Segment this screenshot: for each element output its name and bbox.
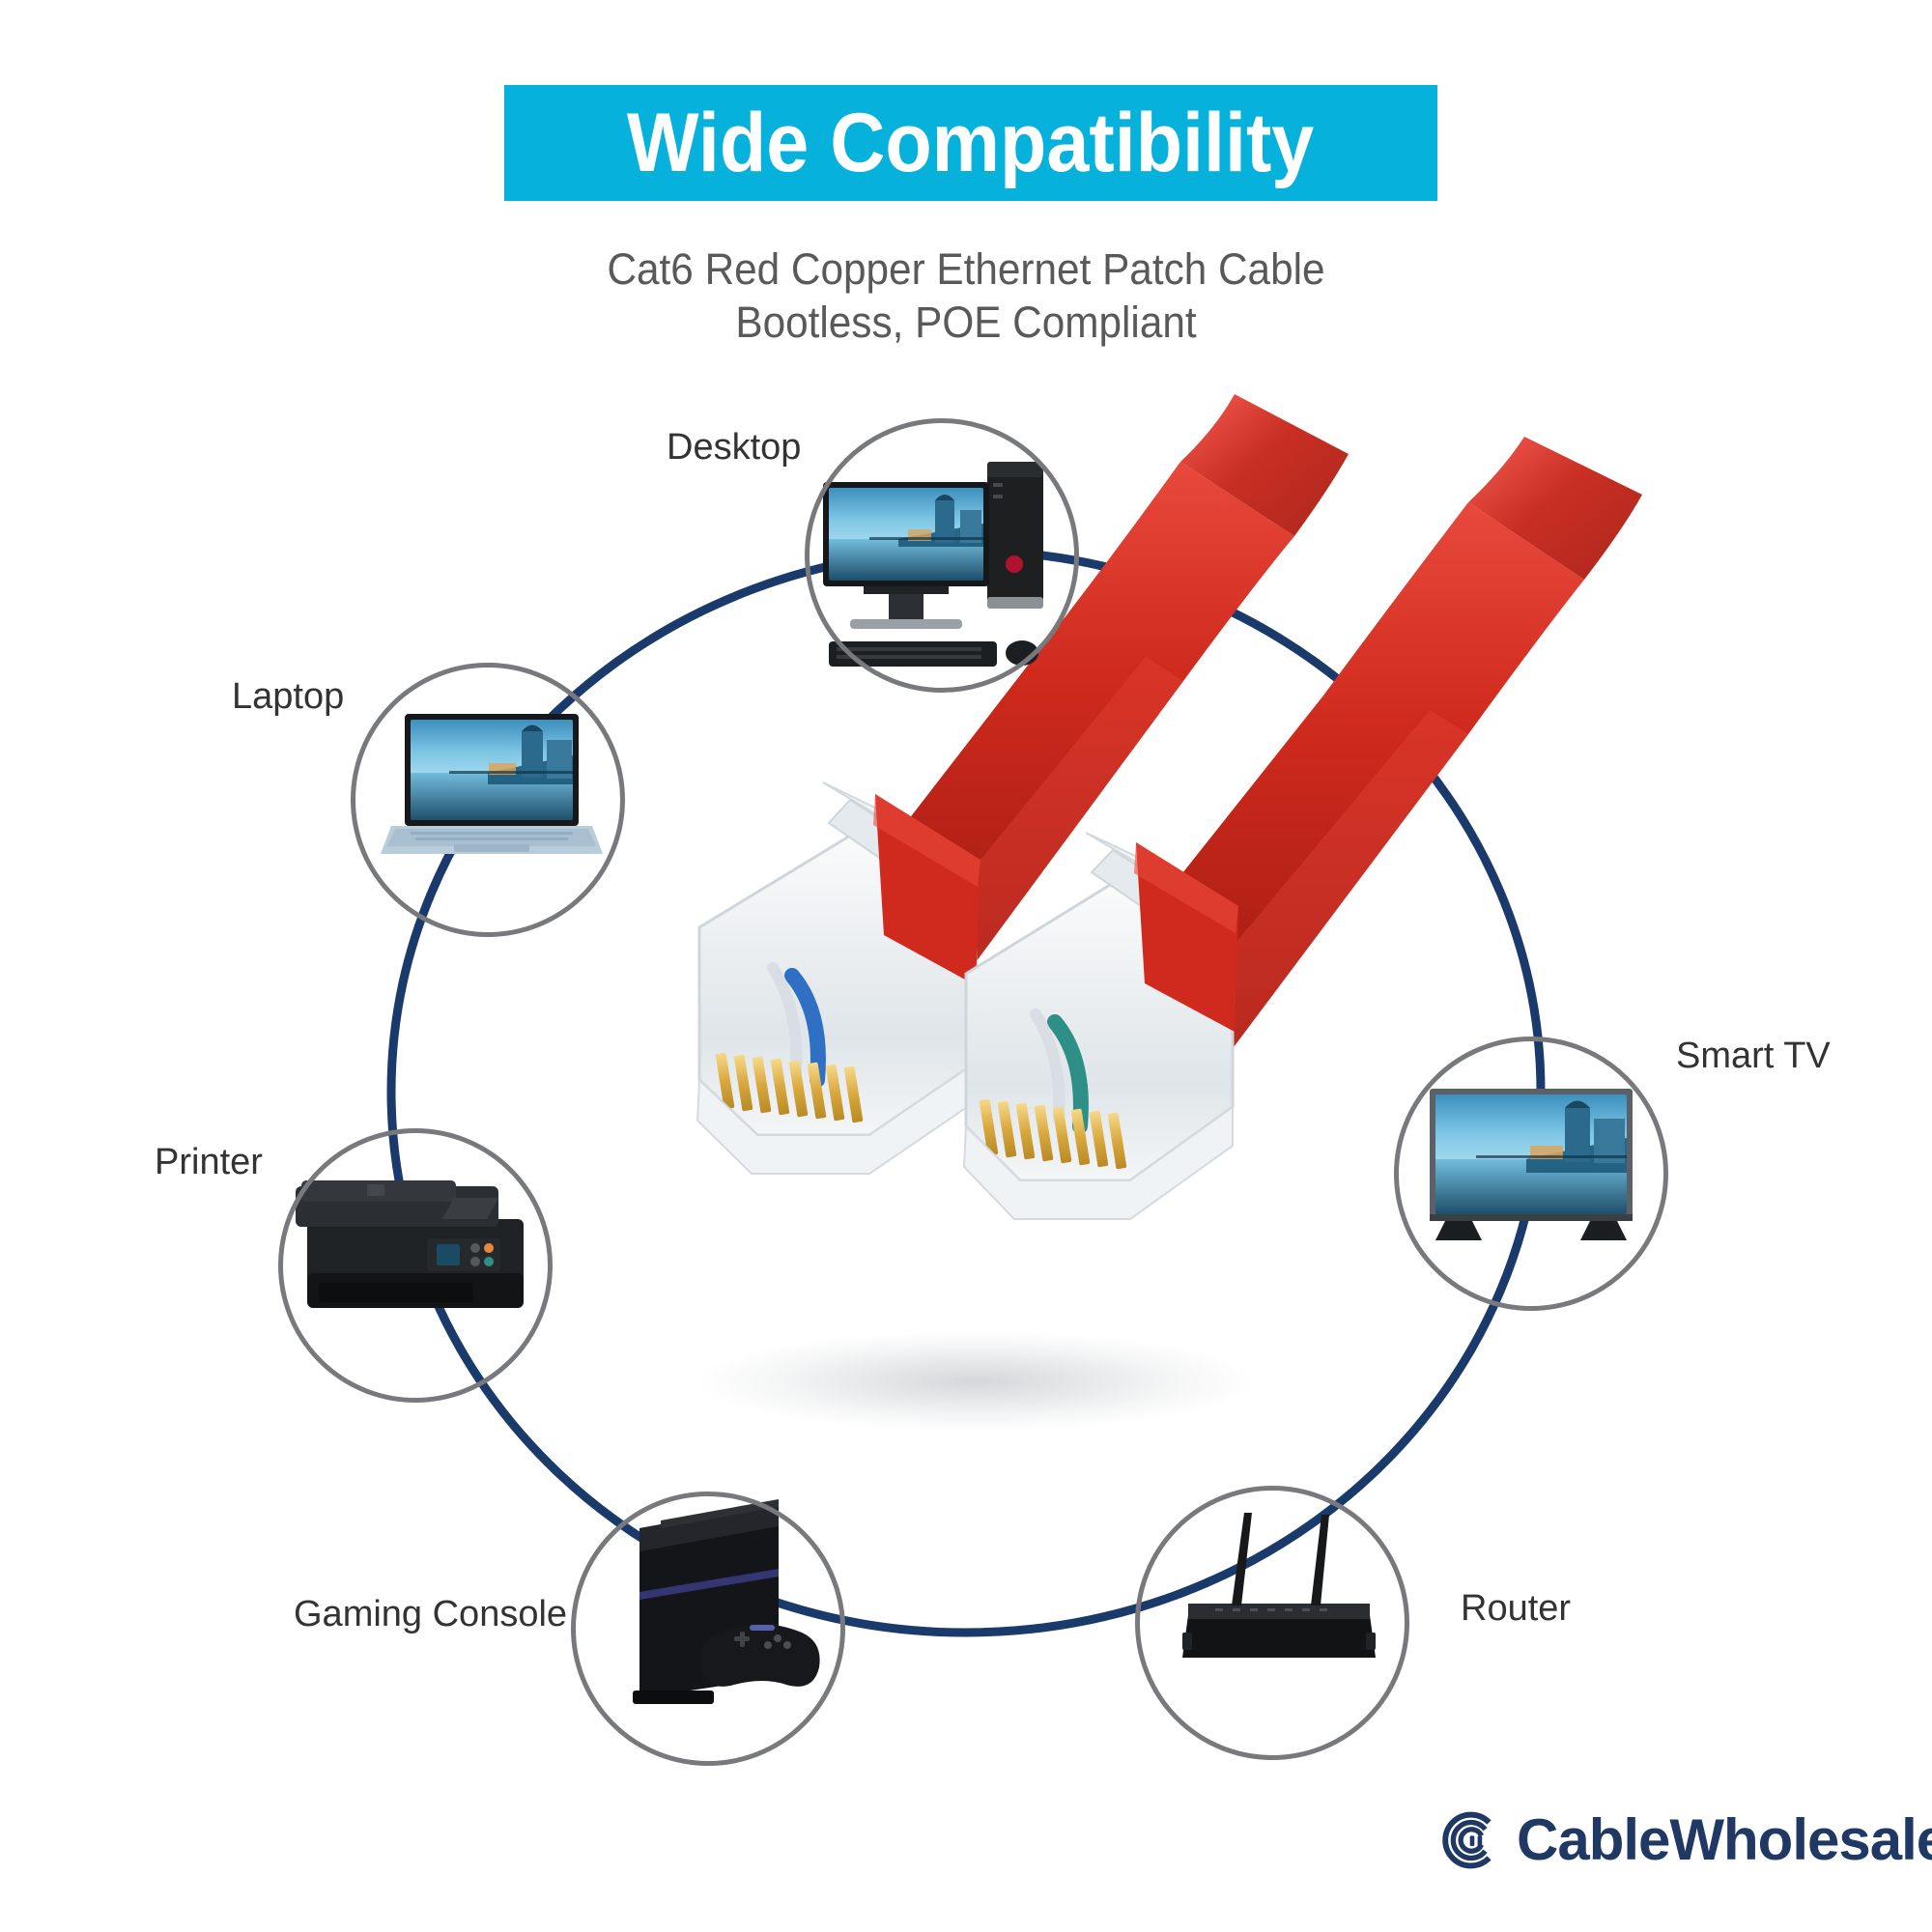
node-desktop[interactable] [805,418,1079,693]
label-desktop: Desktop [667,427,801,469]
node-laptop[interactable] [351,663,625,937]
brand-logo-text: CableWholesale [1517,1806,1932,1873]
node-gaming-console[interactable] [571,1492,845,1766]
node-printer[interactable] [278,1128,553,1403]
rj45-connector-left [697,782,980,1174]
cablewholesale-c-mark [1439,1808,1503,1872]
diagram-canvas [0,0,1932,1932]
product-shadow [696,1331,1256,1432]
label-laptop: Laptop [232,676,344,718]
label-router: Router [1461,1588,1571,1630]
label-smart-tv: Smart TV [1676,1036,1831,1077]
label-printer: Printer [155,1142,263,1183]
compatibility-diagram: Desktop Laptop Printer Gaming Console Ro… [0,0,1932,1932]
node-router[interactable] [1135,1486,1409,1760]
node-smart-tv[interactable] [1394,1037,1668,1311]
infographic-page: Wide Compatibility Cat6 Red Copper Ether… [0,0,1932,1932]
brand-logo[interactable]: CableWholesale [1439,1806,1932,1873]
label-gaming-console: Gaming Console [294,1594,567,1635]
